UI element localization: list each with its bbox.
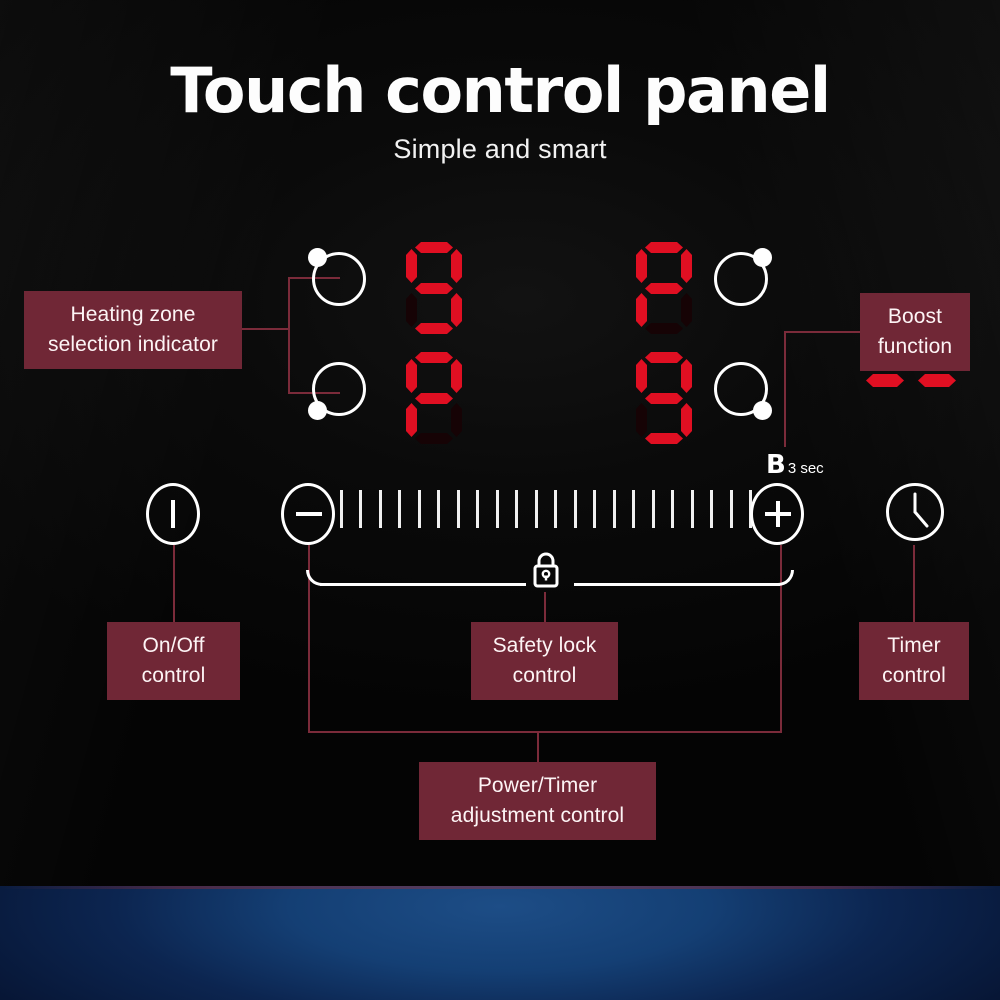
- slider-tick[interactable]: [613, 490, 616, 528]
- label-power-timer: Power/Timer adjustment control: [419, 762, 656, 840]
- slider-tick[interactable]: [574, 490, 577, 528]
- plus-icon: [776, 501, 780, 527]
- zone-indicator-rear-right[interactable]: [714, 252, 768, 306]
- label-safety-lock: Safety lock control: [471, 622, 618, 700]
- panel-diagram: Touch control panel Simple and smart: [0, 0, 1000, 1000]
- zone-dot: [753, 401, 772, 420]
- boost-key-hold: 3 sec: [788, 460, 824, 477]
- zone-indicator-front-right[interactable]: [714, 362, 768, 416]
- zone-indicator-rear-left[interactable]: [312, 252, 366, 306]
- label-heating-zone: Heating zone selection indicator: [24, 291, 242, 369]
- slider-tick[interactable]: [379, 490, 382, 528]
- boost-key-marking: B3 sec: [766, 450, 824, 480]
- zone-dot: [308, 401, 327, 420]
- label-boost-function: Boost function: [860, 293, 970, 371]
- slider-tick[interactable]: [593, 490, 596, 528]
- bracket-line-right: [574, 583, 780, 586]
- slider-tick[interactable]: [457, 490, 460, 528]
- display-front-right: [636, 352, 692, 444]
- slider-tick[interactable]: [691, 490, 694, 528]
- slider-tick[interactable]: [418, 490, 421, 528]
- clock-icon: [889, 486, 941, 538]
- page-title: Touch control panel: [0, 54, 1000, 127]
- slider-tick[interactable]: [359, 490, 362, 528]
- boost-dash: [866, 374, 904, 387]
- slider-tick[interactable]: [710, 490, 713, 528]
- page-subtitle: Simple and smart: [0, 134, 1000, 165]
- slider-tick[interactable]: [476, 490, 479, 528]
- slider-tick[interactable]: [496, 490, 499, 528]
- timer-button[interactable]: [886, 483, 944, 541]
- connector-heatingzone-spine: [288, 278, 290, 394]
- slider-tick[interactable]: [554, 490, 557, 528]
- display-rear-left: [406, 242, 462, 334]
- zone-dot: [308, 248, 327, 267]
- display-front-left: [406, 352, 462, 444]
- slider-tick[interactable]: [398, 490, 401, 528]
- boost-indicator-segments: [866, 374, 966, 390]
- slider-tick[interactable]: [671, 490, 674, 528]
- connector-timer: [913, 545, 915, 622]
- connector-powertimer-drop: [537, 731, 539, 762]
- display-rear-right: [636, 242, 692, 334]
- zone-indicator-front-left[interactable]: [312, 362, 366, 416]
- power-button[interactable]: [146, 483, 200, 545]
- bracket-line-left: [320, 583, 526, 586]
- connector-powertimer-cross: [308, 731, 782, 733]
- connector-safetylock: [544, 592, 546, 622]
- zone-dot: [753, 248, 772, 267]
- background-sheen: [0, 0, 1000, 886]
- label-on-off: On/Off control: [107, 622, 240, 700]
- minus-icon: [296, 512, 322, 516]
- slider-tick[interactable]: [652, 490, 655, 528]
- slider-tick[interactable]: [437, 490, 440, 528]
- boost-key-letter: B: [766, 450, 786, 480]
- connector-onoff: [173, 545, 175, 622]
- power-icon: [171, 500, 175, 528]
- padlock-icon[interactable]: [530, 550, 562, 590]
- connector-boost-top: [784, 331, 860, 333]
- slider-tick[interactable]: [730, 490, 733, 528]
- slider-tick[interactable]: [535, 490, 538, 528]
- slider-tick[interactable]: [515, 490, 518, 528]
- decrease-button[interactable]: [281, 483, 335, 545]
- boost-dash: [918, 374, 956, 387]
- bottom-gradient-band: [0, 886, 1000, 1000]
- label-timer: Timer control: [859, 622, 969, 700]
- slider-track[interactable]: [340, 490, 752, 528]
- increase-button[interactable]: [750, 483, 804, 545]
- connector-boost-down: [784, 331, 786, 447]
- bracket-corner-right: [778, 570, 794, 586]
- slider-tick[interactable]: [340, 490, 343, 528]
- slider-tick[interactable]: [632, 490, 635, 528]
- connector-heatingzone-stem: [240, 328, 290, 330]
